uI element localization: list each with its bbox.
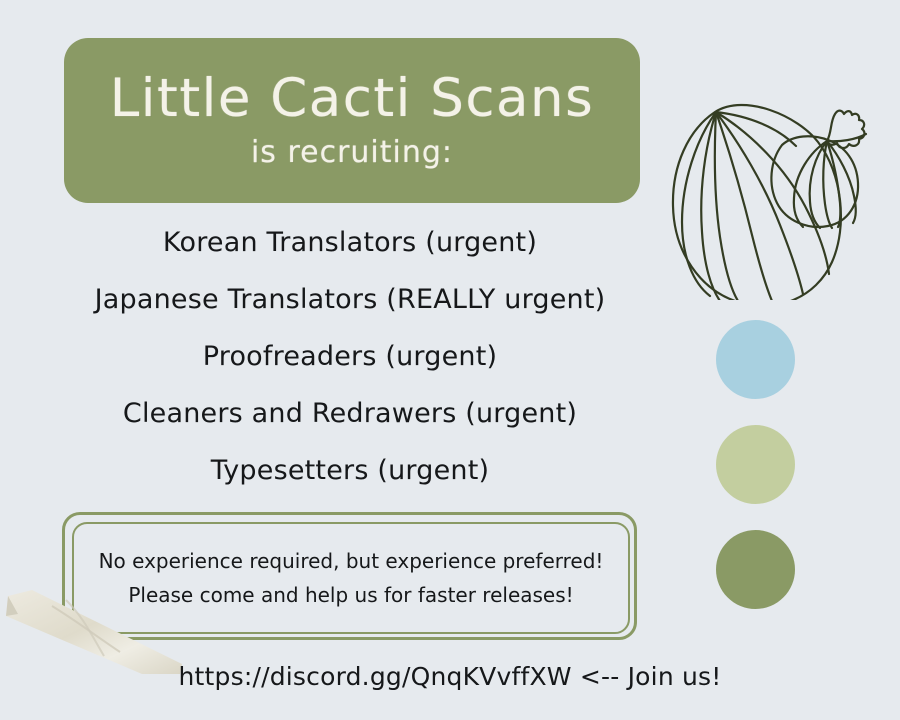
recruitment-poster: Little Cacti Scans is recruiting: xyxy=(0,0,900,720)
cactus-svg xyxy=(660,40,900,300)
washi-tape-svg xyxy=(0,560,182,675)
large-cactus-body xyxy=(673,105,841,300)
note-line: Please come and help us for faster relea… xyxy=(128,578,573,612)
color-swatch-pale-sage xyxy=(716,425,795,504)
large-cactus-rib xyxy=(682,112,716,296)
washi-tape xyxy=(0,560,182,675)
role-item: Japanese Translators (REALLY urgent) xyxy=(95,271,606,328)
cactus-illustration xyxy=(660,40,900,300)
role-item: Korean Translators (urgent) xyxy=(163,214,537,271)
small-cactus-rib xyxy=(827,141,840,227)
large-cactus-rib xyxy=(716,112,772,300)
role-item: Cleaners and Redrawers (urgent) xyxy=(123,385,577,442)
discord-invite-link[interactable]: https://discord.gg/QnqKVvffXW <-- Join u… xyxy=(0,662,900,691)
color-swatch-olive-green xyxy=(716,530,795,609)
page-title: Little Cacti Scans xyxy=(110,72,594,125)
role-item: Proofreaders (urgent) xyxy=(203,328,497,385)
roles-list: Korean Translators (urgent) Japanese Tra… xyxy=(40,214,660,499)
role-item: Typesetters (urgent) xyxy=(211,442,489,499)
banner-subtitle: is recruiting: xyxy=(251,135,453,170)
title-banner: Little Cacti Scans is recruiting: xyxy=(64,38,640,203)
color-swatch-light-blue xyxy=(716,320,795,399)
